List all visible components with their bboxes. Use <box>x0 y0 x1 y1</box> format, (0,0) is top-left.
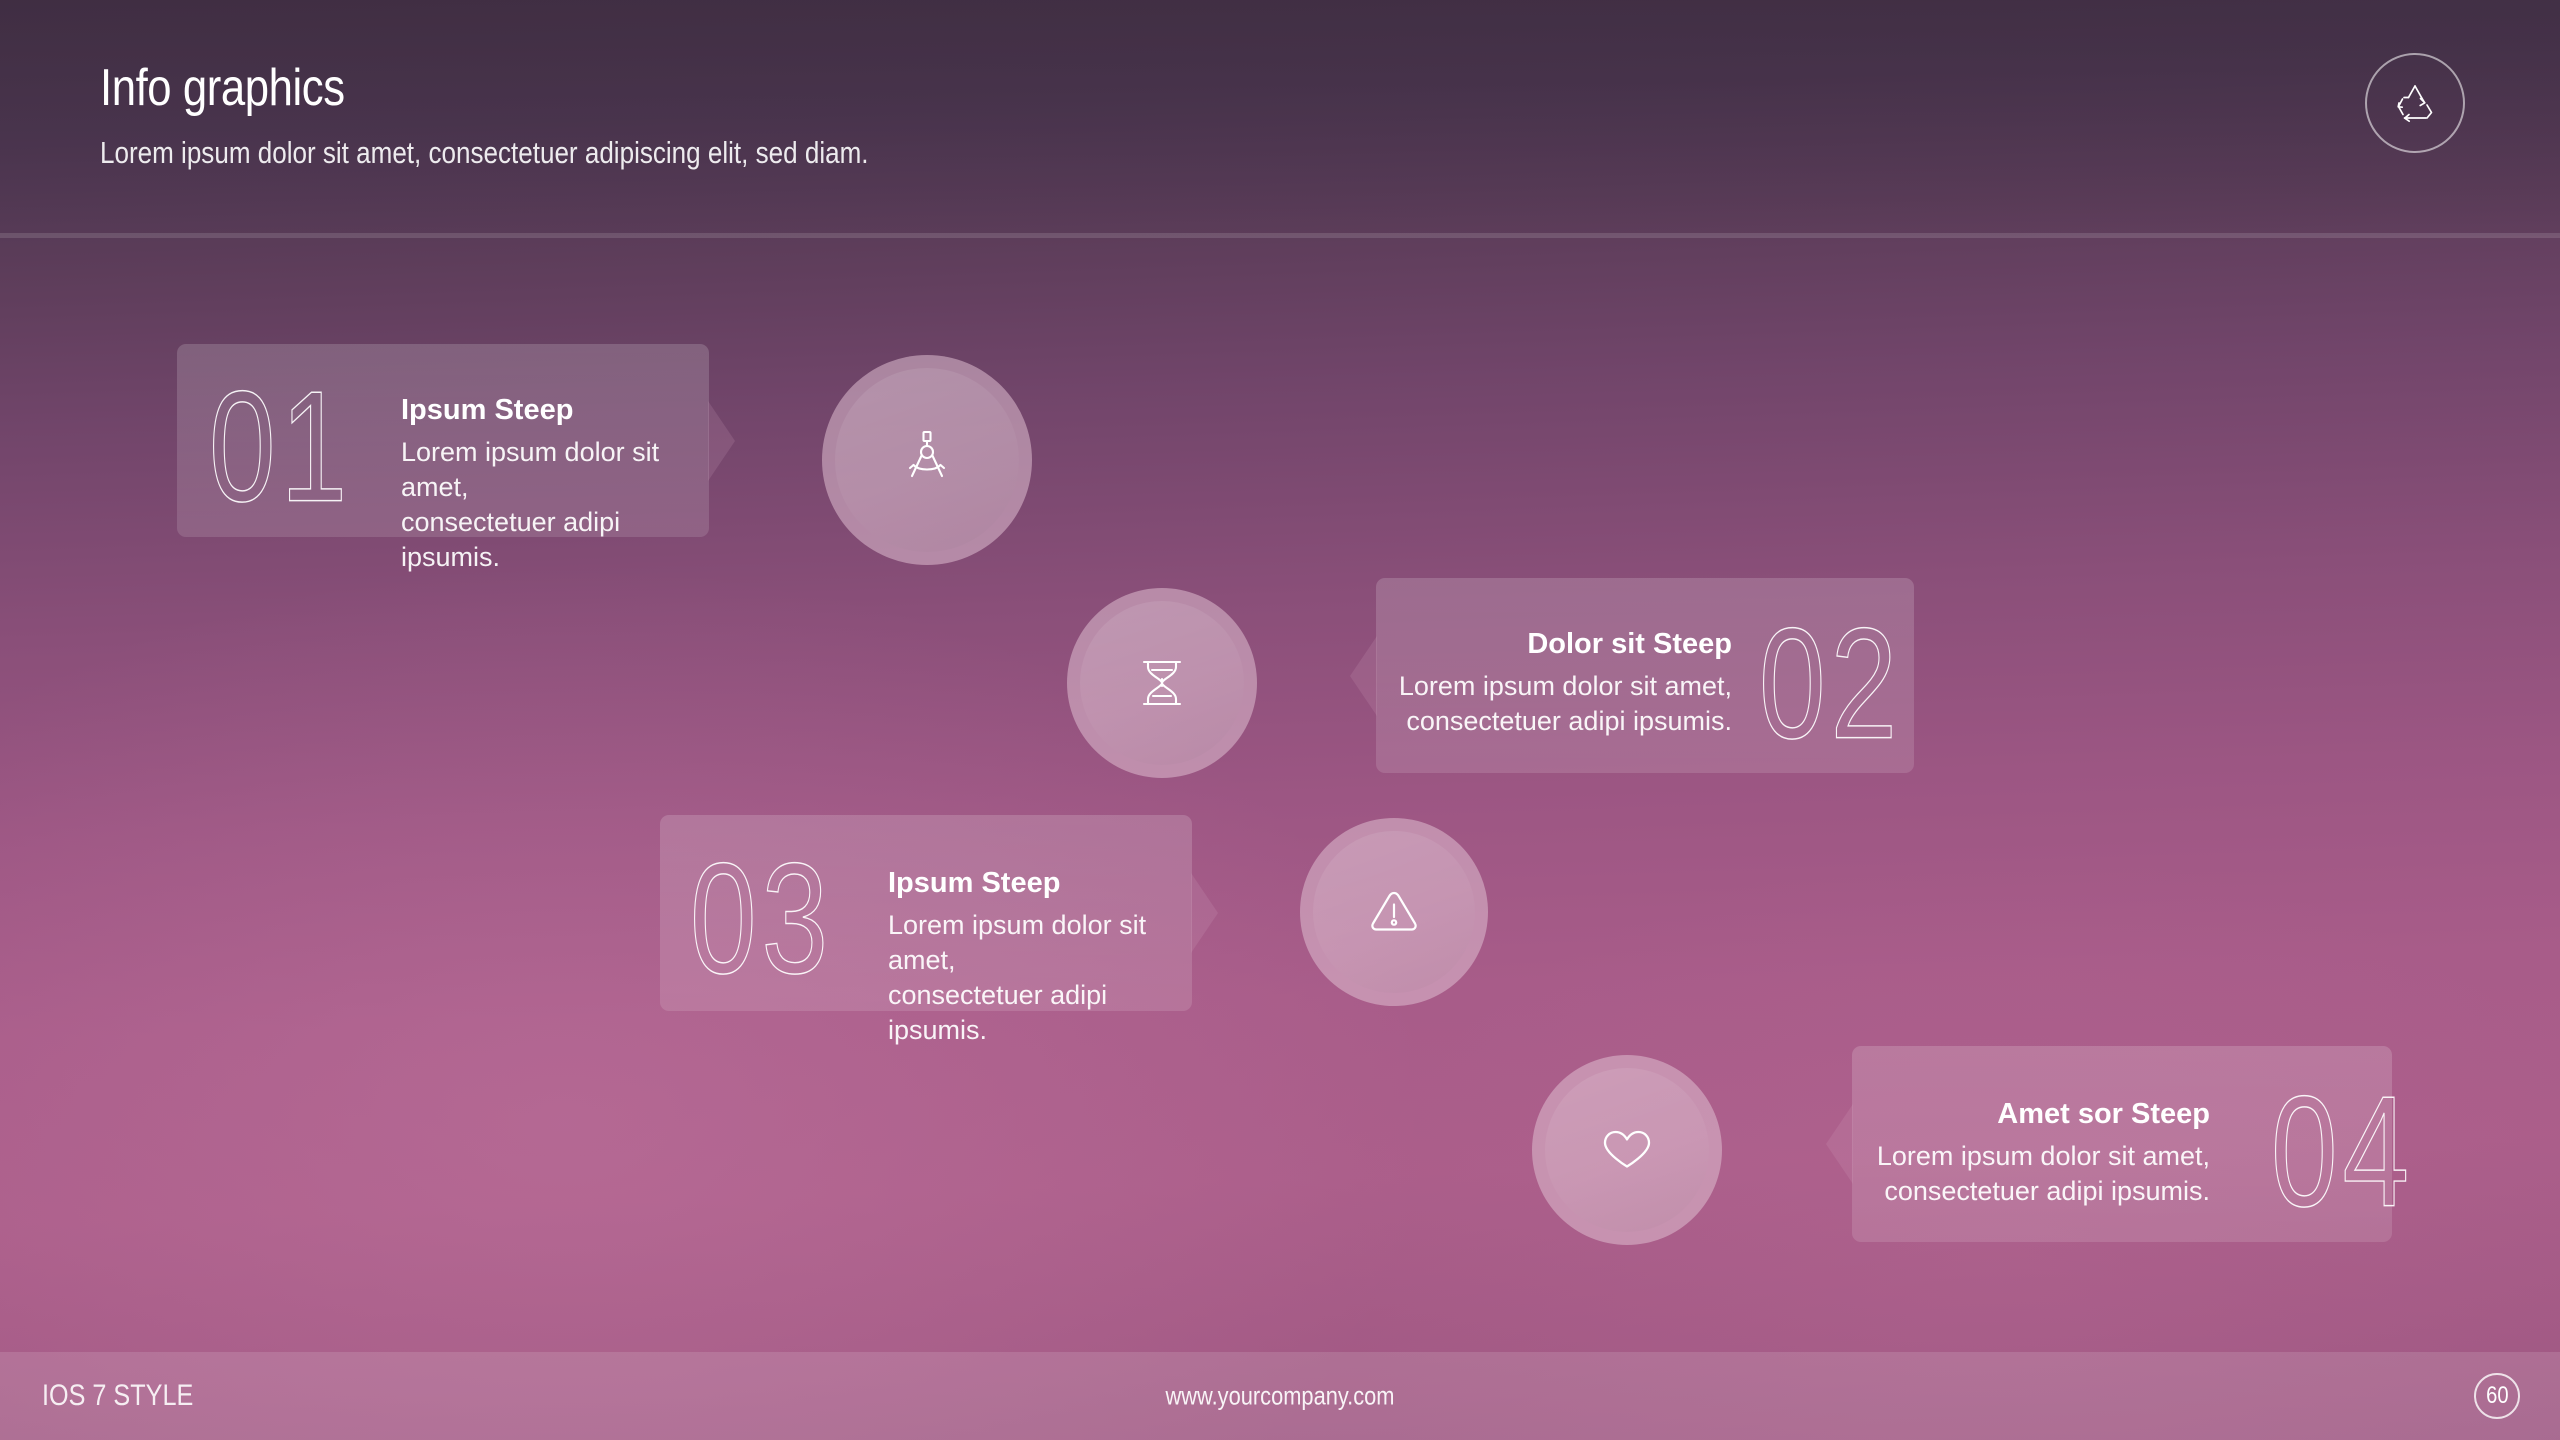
step-numeral: 04 <box>2271 1072 2414 1230</box>
slide-canvas: Info graphics Lorem ipsum dolor sit amet… <box>0 0 2560 1440</box>
footer-website[interactable]: www.yourcompany.com <box>1166 1381 1395 1412</box>
hourglass-icon <box>1127 648 1197 718</box>
step-icon-circle-02[interactable] <box>1067 588 1257 778</box>
step-numeral: 02 <box>1759 604 1902 762</box>
recycle-badge <box>2365 53 2465 153</box>
icon-circle-inner <box>835 368 1019 552</box>
card-notch <box>708 401 735 481</box>
step-icon-circle-03[interactable] <box>1300 818 1488 1006</box>
step-title: Ipsum Steep <box>401 394 573 427</box>
card-notch <box>1350 636 1377 716</box>
step-card-02[interactable]: 02 Dolor sit Steep Lorem ipsum dolor sit… <box>1376 578 1914 773</box>
warning-triangle-icon <box>1358 876 1430 948</box>
step-title: Amet sor Steep <box>1997 1098 2210 1131</box>
slide-header: Info graphics Lorem ipsum dolor sit amet… <box>0 0 2560 236</box>
icon-circle-inner <box>1313 831 1475 993</box>
step-body: Lorem ipsum dolor sit amet, consectetuer… <box>1399 669 1732 739</box>
step-icon-circle-01[interactable] <box>822 355 1032 565</box>
compass-icon <box>888 421 966 499</box>
page-number: 60 <box>2486 1382 2508 1410</box>
page-subtitle: Lorem ipsum dolor sit amet, consectetuer… <box>100 135 869 171</box>
step-numeral: 01 <box>209 367 352 525</box>
header-divider <box>0 233 2560 238</box>
icon-circle-inner <box>1080 601 1244 765</box>
step-title: Ipsum Steep <box>888 867 1060 900</box>
page-title: Info graphics <box>100 58 345 118</box>
step-icon-circle-04[interactable] <box>1532 1055 1722 1245</box>
page-number-badge: 60 <box>2474 1373 2520 1419</box>
step-title: Dolor sit Steep <box>1527 628 1732 661</box>
step-body: Lorem ipsum dolor sit amet, consectetuer… <box>401 435 709 575</box>
card-notch <box>1826 1104 1853 1184</box>
step-card-03[interactable]: 03 Ipsum Steep Lorem ipsum dolor sit ame… <box>660 815 1192 1011</box>
slide-footer: IOS 7 STYLE www.yourcompany.com 60 <box>0 1352 2560 1440</box>
icon-circle-inner <box>1545 1068 1709 1232</box>
card-notch <box>1191 873 1218 953</box>
footer-style-label: IOS 7 STYLE <box>42 1379 193 1413</box>
heart-icon <box>1590 1113 1664 1187</box>
step-card-04[interactable]: 04 Amet sor Steep Lorem ipsum dolor sit … <box>1852 1046 2392 1242</box>
recycle-icon <box>2389 77 2441 129</box>
step-card-01[interactable]: 01 Ipsum Steep Lorem ipsum dolor sit ame… <box>177 344 709 537</box>
step-body: Lorem ipsum dolor sit amet, consectetuer… <box>888 908 1192 1048</box>
step-body: Lorem ipsum dolor sit amet, consectetuer… <box>1877 1139 2210 1209</box>
step-numeral: 03 <box>690 839 833 997</box>
